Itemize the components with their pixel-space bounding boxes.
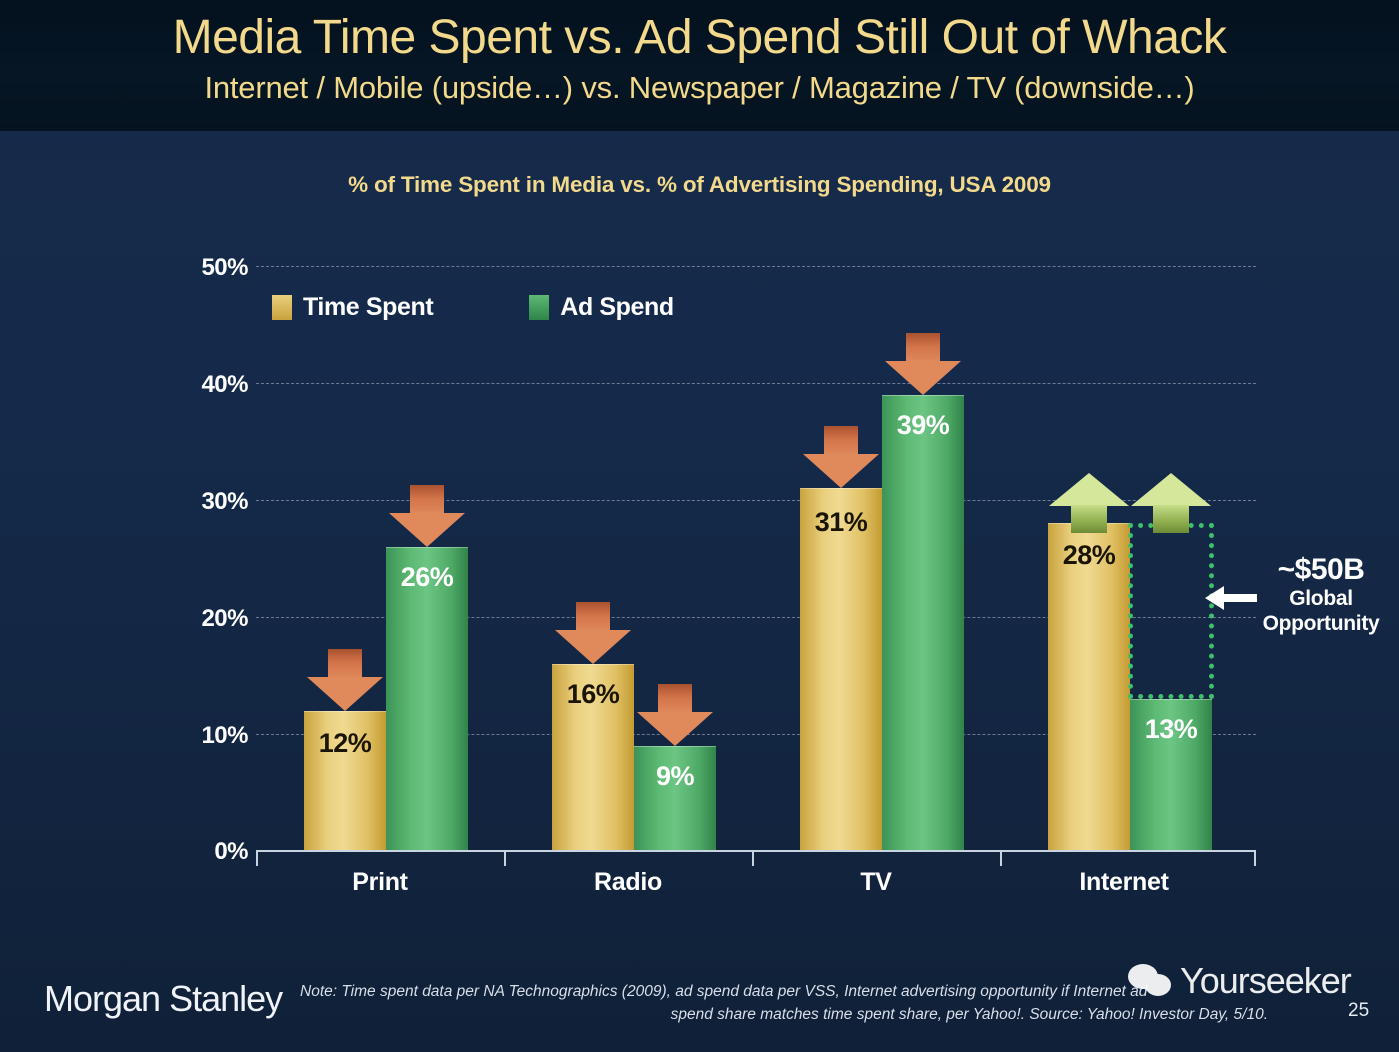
bar-value-internet-time-spent: 28% (1048, 540, 1130, 571)
bar-value-print-time-spent: 12% (304, 728, 386, 759)
page-number: 25 (1348, 1000, 1369, 1022)
legend-item-time-spent[interactable]: Time Spent (272, 293, 433, 322)
slide-header: Media Time Spent vs. Ad Spend Still Out … (0, 0, 1399, 131)
opportunity-callout: ~$50B Global Opportunity (1246, 552, 1396, 637)
x-axis-tick-right (1254, 850, 1256, 866)
arrow-up-internet-ad-spend (1131, 473, 1211, 533)
x-axis-tick-radio (752, 850, 754, 866)
y-tick-label-30: 30% (162, 488, 248, 516)
gridline-40 (256, 383, 1256, 384)
bar-print-ad-spend[interactable]: 26% (386, 547, 468, 851)
legend-label-time-spent: Time Spent (303, 293, 433, 322)
page-subtitle: Internet / Mobile (upside…) vs. Newspape… (0, 63, 1399, 105)
x-axis-tick-left (256, 850, 258, 866)
bar-print-time-spent[interactable]: 12% (304, 711, 386, 851)
x-axis-label-internet: Internet (1004, 868, 1244, 897)
morgan-stanley-logo: Morgan Stanley (44, 978, 282, 1020)
x-axis-label-print: Print (260, 868, 500, 897)
y-tick-label-40: 40% (162, 371, 248, 399)
opportunity-box (1128, 523, 1214, 699)
bar-value-tv-time-spent: 31% (800, 507, 882, 538)
bar-radio-ad-spend[interactable]: 9% (634, 746, 716, 851)
bar-tv-time-spent[interactable]: 31% (800, 488, 882, 851)
bar-value-radio-time-spent: 16% (552, 679, 634, 710)
bar-value-radio-ad-spend: 9% (634, 761, 716, 792)
legend-swatch-time-spent (272, 295, 292, 320)
arrow-down-radio-time-spent (555, 602, 631, 664)
y-tick-label-20: 20% (162, 605, 248, 633)
bar-value-internet-ad-spend: 13% (1130, 714, 1212, 745)
opportunity-line3: Opportunity (1246, 612, 1396, 637)
arrow-up-internet-time-spent (1049, 473, 1129, 533)
bar-internet-time-spent[interactable]: 28% (1048, 523, 1130, 851)
opportunity-amount: ~$50B (1246, 552, 1396, 587)
arrow-down-print-time-spent (307, 649, 383, 711)
y-tick-label-0: 0% (162, 838, 248, 866)
slide: Media Time Spent vs. Ad Spend Still Out … (0, 0, 1399, 1052)
footnote-line2: spend share matches time spent share, pe… (300, 1003, 1320, 1026)
plot-area: 12% 26% 16% 9% 31% (256, 266, 1256, 851)
x-axis-tick-tv (1000, 850, 1002, 866)
x-axis-line (256, 850, 1256, 852)
x-axis-label-radio: Radio (508, 868, 748, 897)
arrow-down-tv-ad-spend (885, 333, 961, 395)
y-tick-label-50: 50% (162, 254, 248, 282)
arrow-down-radio-ad-spend (637, 684, 713, 746)
x-axis-tick-print (504, 850, 506, 866)
legend-swatch-ad-spend (529, 295, 549, 320)
page-title: Media Time Spent vs. Ad Spend Still Out … (0, 0, 1399, 63)
arrow-down-print-ad-spend (389, 485, 465, 547)
bar-value-tv-ad-spend: 39% (882, 410, 964, 441)
arrow-down-tv-time-spent (803, 426, 879, 488)
wechat-logo-icon (1128, 962, 1174, 1000)
chart-title: % of Time Spent in Media vs. % of Advert… (0, 172, 1399, 198)
chart-legend: Time Spent Ad Spend (272, 293, 674, 322)
x-axis-label-tv: TV (756, 868, 996, 897)
bar-tv-ad-spend[interactable]: 39% (882, 395, 964, 851)
y-tick-label-10: 10% (162, 722, 248, 750)
legend-label-ad-spend: Ad Spend (560, 293, 673, 322)
bar-radio-time-spent[interactable]: 16% (552, 664, 634, 851)
bar-internet-ad-spend[interactable]: 13% (1130, 699, 1212, 851)
watermark: Yourseeker (1128, 960, 1351, 1002)
legend-item-ad-spend[interactable]: Ad Spend (529, 293, 673, 322)
opportunity-line2: Global (1246, 587, 1396, 612)
bar-value-print-ad-spend: 26% (386, 562, 468, 593)
gridline-50 (256, 266, 1256, 267)
watermark-text: Yourseeker (1180, 960, 1351, 1002)
